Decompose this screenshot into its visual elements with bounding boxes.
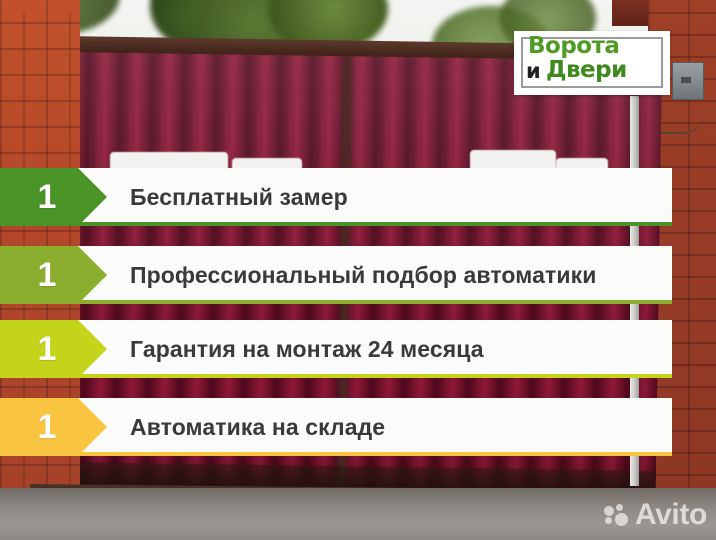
avito-logo-icon [604, 504, 630, 526]
feature-number: 1 [0, 320, 78, 378]
feature-number: 1 [0, 398, 78, 456]
feature-label: Гарантия на монтаж 24 месяца [130, 320, 484, 378]
feature-row: 1Профессиональный подбор автоматики [0, 246, 716, 304]
feature-row: 1Гарантия на монтаж 24 месяца [0, 320, 716, 378]
feature-list: 1Бесплатный замер1Профессиональный подбо… [0, 0, 716, 540]
avito-watermark: Avito [604, 500, 707, 530]
feature-number: 1 [0, 246, 78, 304]
feature-number: 1 [0, 168, 78, 226]
feature-row: 1Бесплатный замер [0, 168, 716, 226]
avito-wordmark: Avito [635, 500, 707, 530]
feature-label: Бесплатный замер [130, 168, 348, 226]
feature-row: 1Автоматика на складе [0, 398, 716, 456]
feature-label: Автоматика на складе [130, 398, 385, 456]
advert-image: Ворота и Двери 1Бесплатный замер1Професс… [0, 0, 716, 540]
feature-label: Профессиональный подбор автоматики [130, 246, 596, 304]
